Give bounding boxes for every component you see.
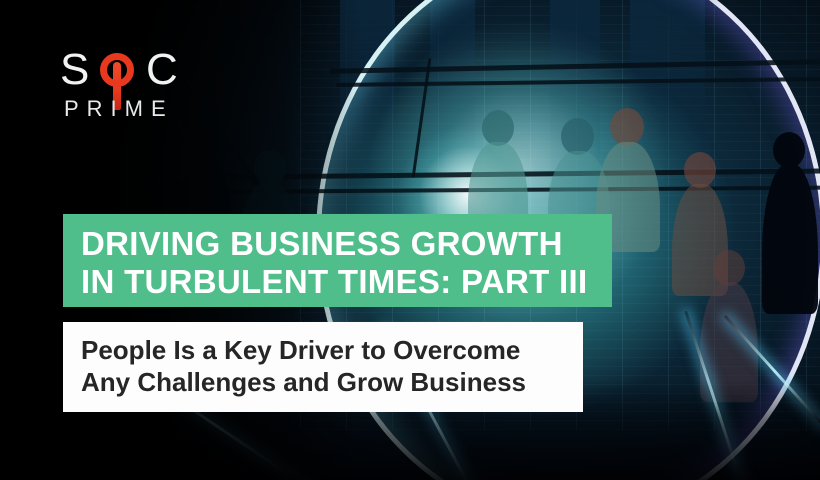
headline-line-2: IN TURBULENT TIMES: PART III bbox=[81, 263, 594, 301]
subheadline-line-1: People Is a Key Driver to Overcome bbox=[81, 334, 565, 366]
ring-icon bbox=[100, 53, 134, 87]
subheadline-line-2: Any Challenges and Grow Business bbox=[81, 366, 565, 398]
logo-letter-c: C bbox=[146, 48, 179, 92]
logo-wordmark-soc: S C bbox=[60, 48, 190, 92]
headline-line-1: DRIVING BUSINESS GROWTH bbox=[81, 225, 594, 263]
promo-banner: S C PRIME DRIVING BUSINESS GROWTH IN TUR… bbox=[0, 0, 820, 480]
soc-prime-logo[interactable]: S C PRIME bbox=[60, 48, 190, 120]
headline-banner: DRIVING BUSINESS GROWTH IN TURBULENT TIM… bbox=[63, 214, 612, 307]
logo-wordmark-prime: PRIME bbox=[64, 98, 174, 120]
subheadline-box: People Is a Key Driver to Overcome Any C… bbox=[63, 322, 583, 412]
logo-letter-s: S bbox=[60, 48, 90, 92]
person-silhouette bbox=[762, 132, 818, 312]
soc-prime-needle-mark-icon bbox=[100, 53, 134, 87]
